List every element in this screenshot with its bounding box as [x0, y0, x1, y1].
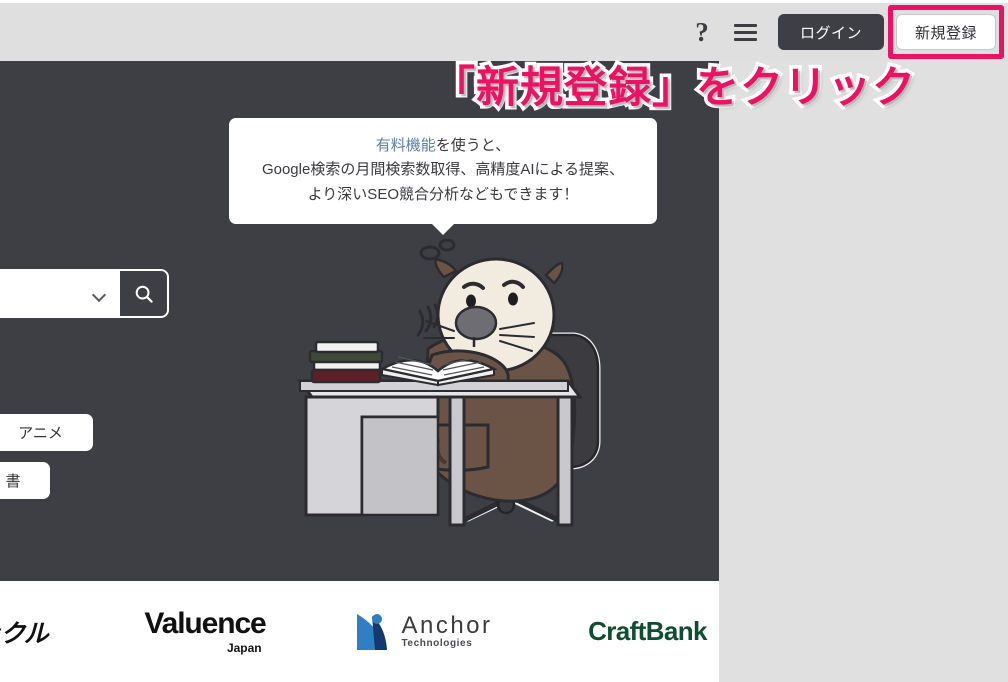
search-button[interactable]: [120, 269, 169, 318]
premium-feature-tooltip: 有料機能を使うと、 Google検索の月間検索数取得、高精度AIによる提案、 よ…: [229, 118, 657, 224]
browser-canvas: ? ログイン 新規登録 有料機能を使うと、 Google検索の月間検索数取: [0, 0, 1008, 682]
valuence-logo-text: Valuence: [144, 609, 265, 639]
otter-reading-at-desk-illustration: [278, 239, 612, 573]
login-button[interactable]: ログイン: [778, 14, 884, 50]
tooltip-line-3: より深いSEO競合分析などもできます！: [243, 183, 643, 207]
question-mark-icon: ?: [695, 19, 709, 46]
tooltip-line-2: Google検索の月間検索数取得、高精度AIによる提案、: [243, 158, 643, 182]
craftbank-logo: CraftBank: [560, 616, 719, 647]
page-content-column: 有料機能を使うと、 Google検索の月間検索数取得、高精度AIによる提案、 よ…: [0, 61, 719, 682]
kukuru-logo: ックル: [0, 614, 72, 650]
valuence-logo: Valuence Japan: [130, 609, 280, 654]
help-button[interactable]: ?: [680, 10, 724, 54]
anchor-technologies-logo: Anchor Technologies: [338, 610, 508, 654]
search-row: ogle): [0, 269, 169, 318]
hamburger-menu-button[interactable]: [724, 10, 768, 54]
chevron-down-icon: [93, 290, 106, 298]
suggestion-chip-book[interactable]: 書: [0, 462, 50, 499]
suggestion-chip-anime[interactable]: アニメ: [0, 414, 93, 451]
signup-button-wrapper: 新規登録: [896, 14, 996, 50]
hamburger-menu-icon: [734, 24, 757, 41]
hero-section: 有料機能を使うと、 Google検索の月間検索数取得、高精度AIによる提案、 よ…: [0, 61, 719, 581]
anchor-logo-sub: Technologies: [401, 639, 492, 650]
valuence-logo-sub: Japan: [144, 642, 265, 654]
client-logo-strip: ックル Valuence Japan Anchor T: [0, 581, 719, 682]
search-engine-select[interactable]: ogle): [0, 269, 120, 318]
click-signup-annotation: 「新規登録」をクリック: [432, 53, 916, 115]
header-actions: ? ログイン 新規登録: [680, 10, 1000, 54]
anchor-logo-text: Anchor: [401, 613, 492, 638]
tooltip-premium-link[interactable]: 有料機能: [376, 137, 436, 154]
tooltip-line-1-rest: を使うと、: [436, 137, 510, 154]
tooltip-line-1: 有料機能を使うと、: [243, 134, 643, 158]
signup-button[interactable]: 新規登録: [896, 14, 996, 50]
search-icon: [134, 284, 154, 304]
anchor-logo-mark: [353, 610, 393, 654]
